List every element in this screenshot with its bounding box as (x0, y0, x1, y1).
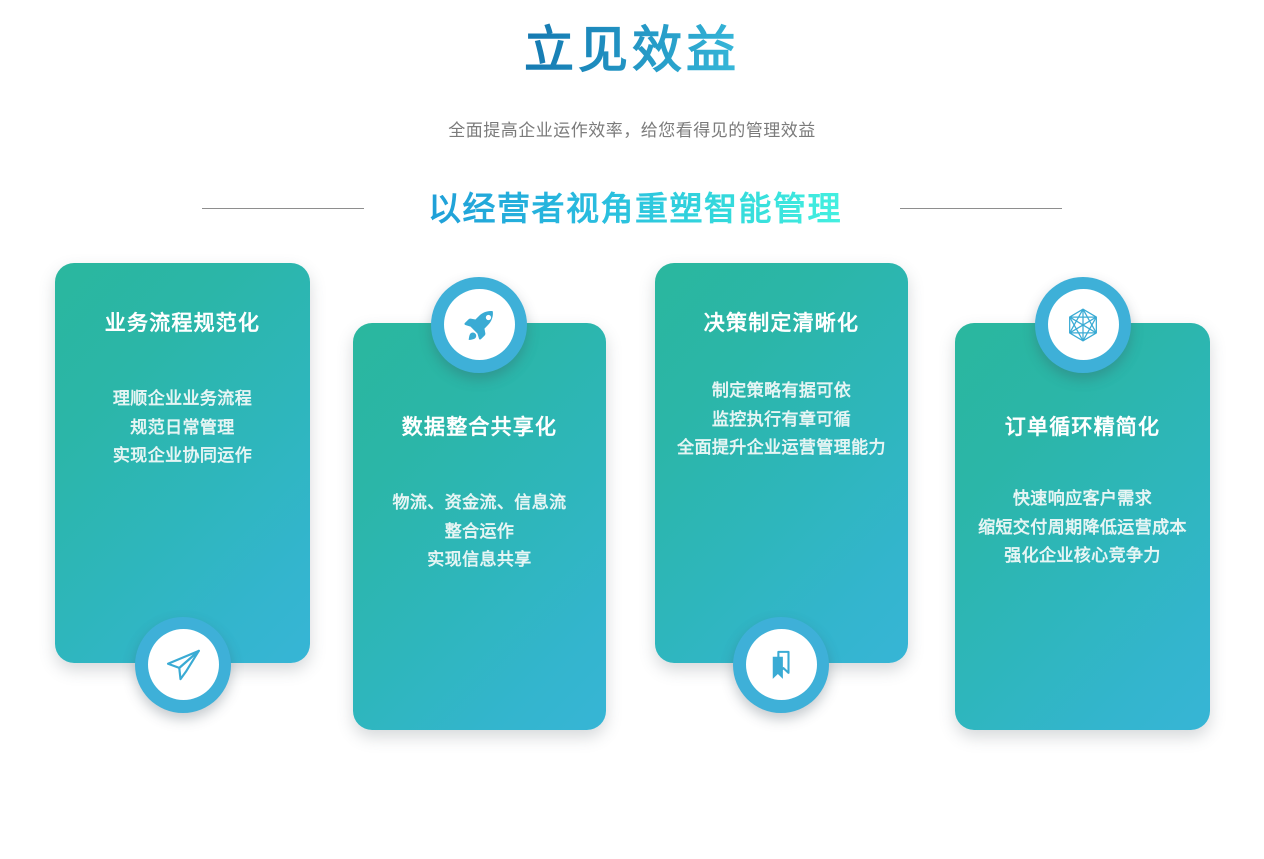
feature-card-business-process[interactable]: 业务流程规范化 理顺企业业务流程规范日常管理实现企业协同运作 (55, 263, 310, 663)
section-heading: 以经营者视角重塑智能管理 (0, 141, 1264, 227)
icon-badge-inner (148, 629, 219, 700)
page-title: 立见效益 (524, 22, 740, 80)
paper-plane-icon (163, 645, 203, 685)
icon-badge-inner (444, 289, 515, 360)
card-body: 物流、资金流、信息流整合运作实现信息共享 (353, 441, 606, 575)
icon-badge-inner (746, 629, 817, 700)
feature-card-data-integration[interactable]: 数据整合共享化 物流、资金流、信息流整合运作实现信息共享 (353, 323, 606, 730)
card-title: 业务流程规范化 (55, 263, 310, 337)
bookmarks-icon (763, 647, 799, 683)
card-body: 理顺企业业务流程规范日常管理实现企业协同运作 (55, 337, 310, 471)
feature-cards-area: 业务流程规范化 理顺企业业务流程规范日常管理实现企业协同运作 数据整合共享化 物… (0, 251, 1264, 751)
feature-card-decision-making[interactable]: 决策制定清晰化 制定策略有据可依监控执行有章可循全面提升企业运营管理能力 (655, 263, 908, 663)
card-icon-badge-data-integration[interactable] (431, 277, 527, 373)
page-header: 立见效益 全面提高企业运作效率，给您看得见的管理效益 以经营者视角重塑智能管理 (0, 0, 1264, 227)
icon-badge-inner (1048, 289, 1119, 360)
divider-right (900, 208, 1062, 209)
page-subtitle: 全面提高企业运作效率，给您看得见的管理效益 (0, 80, 1264, 141)
divider-left (202, 208, 364, 209)
feature-card-order-cycle[interactable]: 订单循环精简化 快速响应客户需求缩短交付周期降低运营成本强化企业核心竞争力 (955, 323, 1210, 730)
card-icon-badge-decision-making[interactable] (733, 617, 829, 713)
card-body: 快速响应客户需求缩短交付周期降低运营成本强化企业核心竞争力 (955, 441, 1210, 571)
card-body: 制定策略有据可依监控执行有章可循全面提升企业运营管理能力 (655, 337, 908, 463)
card-icon-badge-business-process[interactable] (135, 617, 231, 713)
hexagon-network-icon (1063, 305, 1103, 345)
section-heading-text: 以经营者视角重塑智能管理 (428, 191, 842, 227)
rocket-icon (460, 306, 498, 344)
card-title: 决策制定清晰化 (655, 263, 908, 337)
card-icon-badge-order-cycle[interactable] (1035, 277, 1131, 373)
